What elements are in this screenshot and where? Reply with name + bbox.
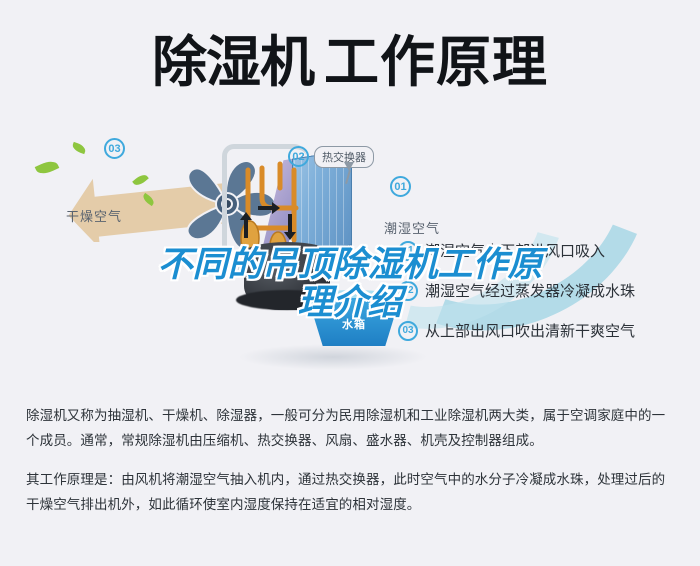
badge-03-dry-air: 03 — [104, 138, 125, 159]
paragraph-1: 除湿机又称为抽湿机、干燥机、除湿器，一般可分为民用除湿机和工业除湿机两大类，属于… — [26, 404, 674, 454]
page-title-part1: 除湿机 — [152, 30, 314, 94]
caption-dry-air: 干燥空气 — [66, 206, 122, 225]
paragraph-2: 其工作原理是：由风机将潮湿空气抽入机内，通过热交换器，此时空气中的水分子冷凝成水… — [26, 468, 674, 518]
list-item: 02 潮湿空气经过蒸发器冷凝成水珠 — [398, 280, 635, 301]
water-tank: 水箱 — [308, 290, 400, 352]
principle-steps-list: 01 潮湿空气由下部进风口吸入 02 潮湿空气经过蒸发器冷凝成水珠 03 从上部… — [398, 240, 635, 360]
page-title-part2: 工作原理 — [324, 30, 548, 94]
article-body: 除湿机又称为抽湿机、干燥机、除湿器，一般可分为民用除湿机和工业除湿机两大类，属于… — [0, 404, 700, 518]
badge-01-moist-air: 01 — [390, 176, 411, 197]
working-principle-illustration: 水箱 03 干燥空气 02 热交换器 01 潮湿空气 01 潮湿空气由下部进风口… — [0, 122, 700, 402]
list-item: 01 潮湿空气由下部进风口吸入 — [398, 240, 635, 261]
caption-moist-air: 潮湿空气 — [384, 218, 440, 237]
list-item-number: 03 — [398, 321, 418, 341]
list-item-label: 潮湿空气由下部进风口吸入 — [425, 240, 605, 261]
water-tank-label: 水箱 — [308, 316, 400, 332]
hero-banner: 除湿机工作原理 — [0, 0, 700, 130]
list-item-number: 01 — [398, 241, 418, 261]
list-item-number: 02 — [398, 281, 418, 301]
list-item-label: 从上部出风口吹出清新干爽空气 — [425, 320, 635, 341]
list-item: 03 从上部出风口吹出清新干爽空气 — [398, 320, 635, 341]
badge-02-heat-exchanger: 02 — [288, 146, 309, 167]
page-title: 除湿机工作原理 — [0, 26, 700, 98]
list-item-label: 潮湿空气经过蒸发器冷凝成水珠 — [425, 280, 635, 301]
